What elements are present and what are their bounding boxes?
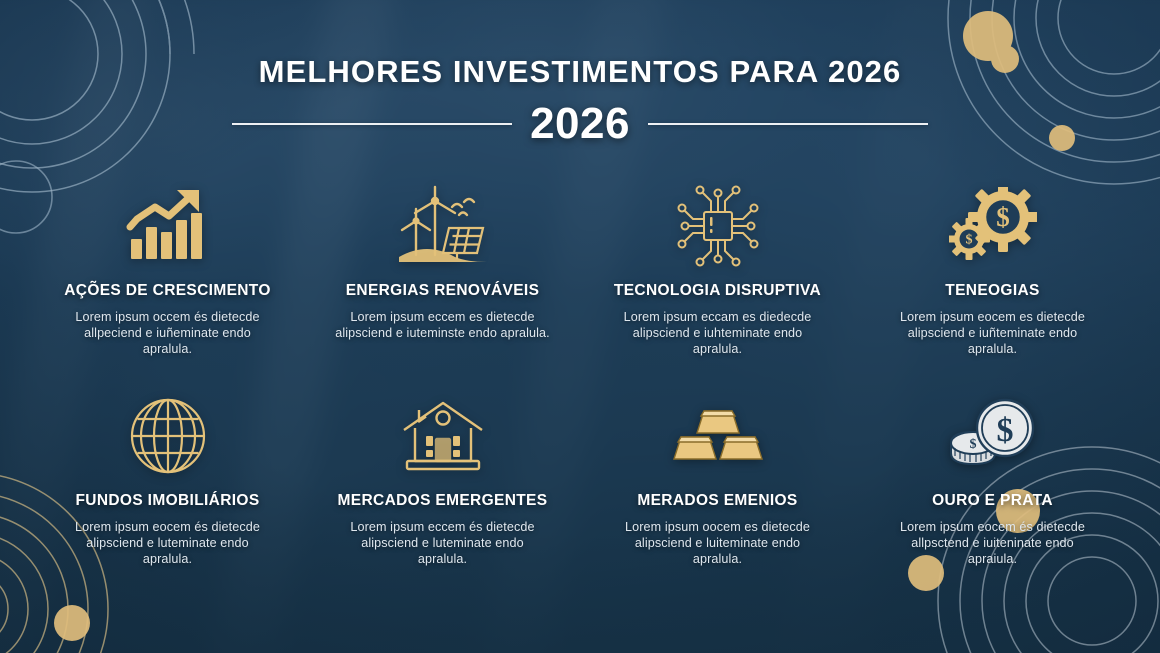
page-title: MELHORES INVESTIMENTOS PARA 2026	[0, 54, 1160, 90]
grid-item-disruptive-tech[interactable]: TECNOLOGIA DISRUPTIVA Lorem ipsum eccam …	[584, 180, 851, 390]
item-title: TECNOLOGIA DISRUPTIVA	[614, 282, 821, 300]
item-description: Lorem ipsum eccem és dietecde alipsciend…	[335, 520, 550, 568]
grid-item-emerging-markets[interactable]: MERCADOS EMERGENTES Lorem ipsum eccem és…	[309, 390, 576, 600]
icon-container	[397, 180, 489, 272]
silver-coins-icon: $ $	[947, 398, 1039, 474]
slide-header: MELHORES INVESTIMENTOS PARA 2026 2026	[0, 54, 1160, 146]
svg-text:$: $	[996, 202, 1010, 232]
item-description: Lorem ipsum eccem es dietecde alipsciend…	[335, 310, 550, 342]
item-description: Lorem ipsum oocem es dietecde alipsciend…	[610, 520, 825, 568]
item-title: ENERGIAS RENOVÁVEIS	[346, 282, 540, 300]
infographic-slide: MELHORES INVESTIMENTOS PARA 2026 2026	[0, 0, 1160, 653]
grid-item-teneogias[interactable]: $	[859, 180, 1126, 390]
icon-container	[673, 180, 763, 272]
divider-line-left	[232, 123, 512, 125]
gear-dollar-icon: $	[949, 187, 1037, 265]
item-description: Lorem ipsum occem és dietecde allpeciend…	[60, 310, 275, 358]
divider-line-right	[648, 123, 928, 125]
icon-container	[125, 180, 211, 272]
icon-container	[398, 390, 488, 482]
investment-grid: AÇÕES DE CRESCIMENTO Lorem ipsum occem é…	[34, 180, 1126, 600]
grid-item-gold-and-silver[interactable]: $ $ OURO E PRATA Lorem ipsum eocem és di…	[859, 390, 1126, 600]
grid-item-commodities[interactable]: MERADOS EMENIOS Lorem ipsum oocem es die…	[584, 390, 851, 600]
item-title: TENEOGIAS	[945, 282, 1039, 300]
svg-text:$: $	[969, 437, 976, 452]
icon-container: $ $	[947, 390, 1039, 482]
item-description: Lorem ipsum eccam es diedecde alipsciend…	[610, 310, 825, 358]
svg-text:$: $	[996, 412, 1013, 449]
grid-item-growth-stocks[interactable]: AÇÕES DE CRESCIMENTO Lorem ipsum occem é…	[34, 180, 301, 390]
year-divider-row: 2026	[0, 102, 1160, 146]
gold-bars-icon	[672, 401, 764, 471]
item-title: MERCADOS EMERGENTES	[338, 492, 548, 510]
year-label: 2026	[530, 102, 630, 146]
item-title: AÇÕES DE CRESCIMENTO	[64, 282, 271, 300]
growth-chart-arrow-icon	[125, 187, 211, 265]
item-title: MERADOS EMENIOS	[637, 492, 797, 510]
wind-turbine-solar-panel-icon	[397, 185, 489, 267]
icon-container	[672, 390, 764, 482]
item-title: OURO E PRATA	[932, 492, 1053, 510]
item-description: Lorem ipsum eocem és dietecde allpsctend…	[885, 520, 1100, 568]
globe-icon	[128, 396, 208, 476]
svg-text:$: $	[965, 233, 972, 248]
microchip-cpu-icon	[673, 183, 763, 269]
grid-item-renewable-energy[interactable]: ENERGIAS RENOVÁVEIS Lorem ipsum eccem es…	[309, 180, 576, 390]
icon-container	[128, 390, 208, 482]
item-description: Lorem ipsum eocem és dietecde alipsciend…	[60, 520, 275, 568]
item-description: Lorem ipsum eocem es dietecde alipsciend…	[885, 310, 1100, 358]
house-icon	[398, 398, 488, 474]
item-title: FUNDOS IMOBILIÁRIOS	[75, 492, 259, 510]
icon-container: $	[949, 180, 1037, 272]
grid-item-real-estate-funds[interactable]: FUNDOS IMOBILIÁRIOS Lorem ipsum eocem és…	[34, 390, 301, 600]
